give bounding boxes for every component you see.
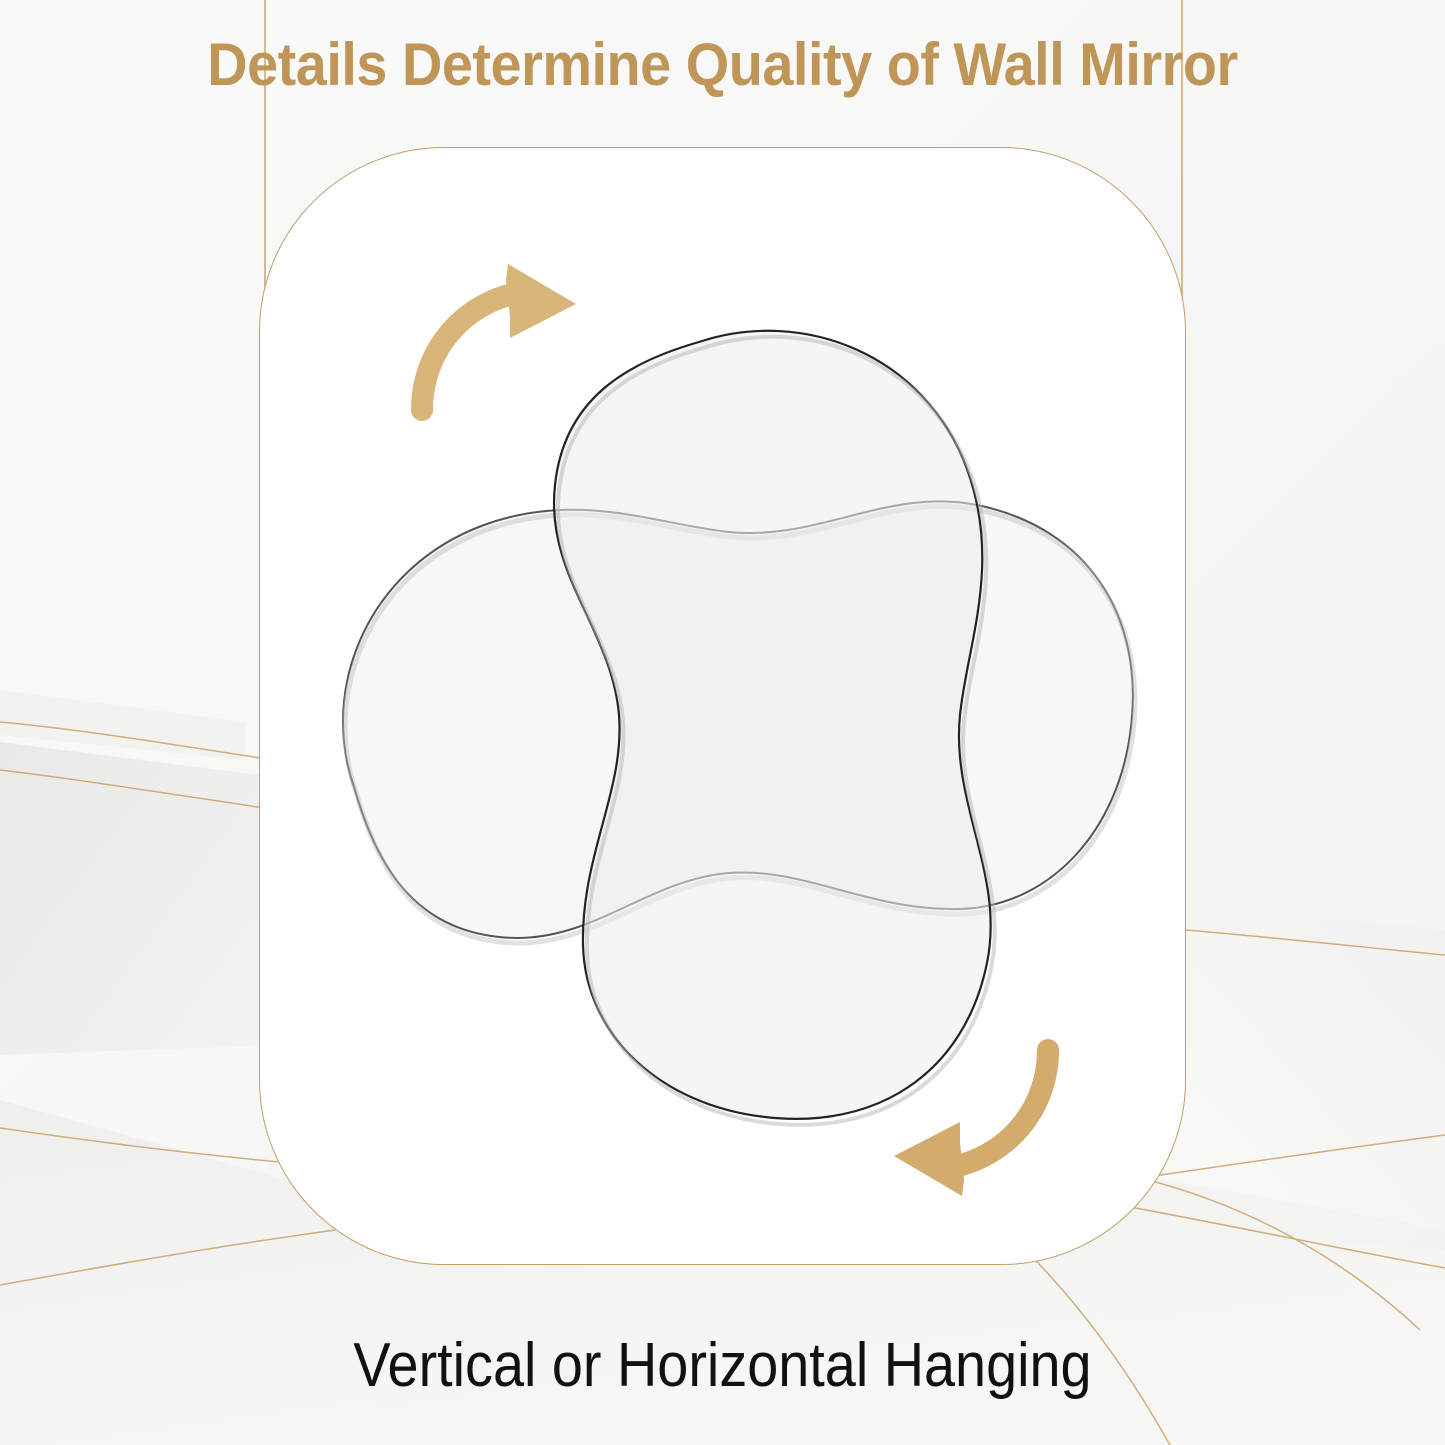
bg-panel-top-left <box>0 690 245 760</box>
bg-line-7 <box>1140 1178 1420 1330</box>
feature-caption: Vertical or Horizontal Hanging <box>72 1330 1373 1401</box>
bg-line-8 <box>1140 1135 1445 1178</box>
product-card-frame <box>259 147 1186 1265</box>
bg-line-6 <box>1186 930 1445 955</box>
page-title: Details Determine Quality of Wall Mirror <box>51 30 1395 99</box>
product-feature-card: Details Determine Quality of Wall Mirror… <box>0 0 1445 1445</box>
